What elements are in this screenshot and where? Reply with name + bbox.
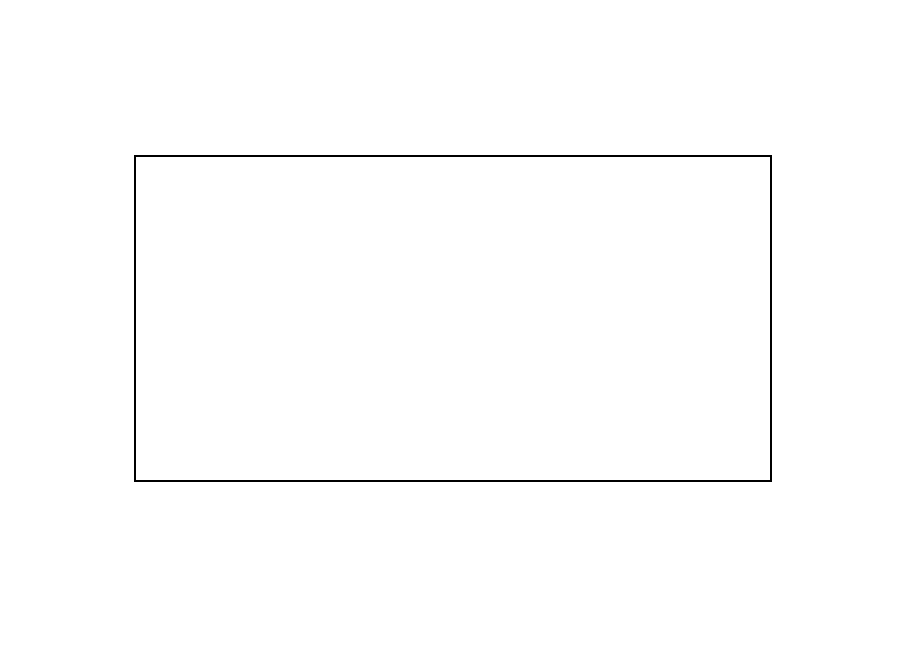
colorbar: [782, 196, 806, 526]
colorbar-canvas: [782, 196, 806, 526]
contour-field-canvas: [136, 157, 770, 480]
plot-area: [134, 155, 772, 482]
contour-plot-figure: [0, 0, 904, 654]
